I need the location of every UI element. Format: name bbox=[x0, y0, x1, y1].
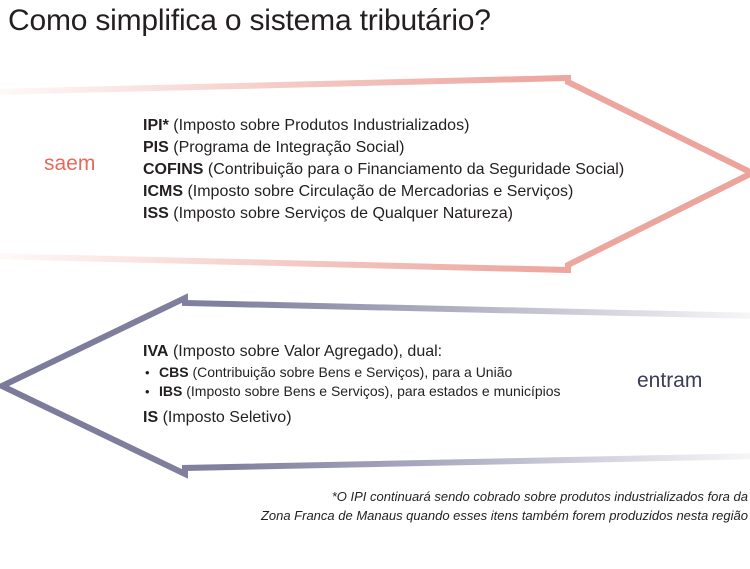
tax-description: (Contribuição para o Financiamento da Se… bbox=[208, 161, 624, 178]
outgoing-tax-list: IPI* (Imposto sobre Produtos Industriali… bbox=[143, 115, 624, 225]
tax-acronym: PIS bbox=[143, 139, 169, 156]
tax-acronym: IS bbox=[143, 409, 158, 426]
footnote-line-1: *O IPI continuará sendo cobrado sobre pr… bbox=[188, 487, 748, 506]
tax-description: (Imposto sobre Valor Agregado), dual: bbox=[173, 343, 442, 360]
list-item: IVA (Imposto sobre Valor Agregado), dual… bbox=[143, 341, 561, 363]
list-item: CBS (Contribuição sobre Bens e Serviços)… bbox=[143, 363, 561, 382]
tax-acronym: IBS bbox=[159, 383, 182, 399]
incoming-group-label: entram bbox=[637, 369, 702, 393]
page-title: Como simplifica o sistema tributário? bbox=[8, 4, 491, 38]
incoming-sub-list: CBS (Contribuição sobre Bens e Serviços)… bbox=[143, 363, 561, 401]
tax-acronym: ISS bbox=[143, 205, 169, 222]
list-item: IS (Imposto Seletivo) bbox=[143, 407, 561, 429]
tax-description: (Imposto sobre Circulação de Mercadorias… bbox=[187, 183, 573, 200]
tax-description: (Imposto sobre Bens e Serviços), para es… bbox=[186, 383, 560, 399]
tax-description: (Imposto Seletivo) bbox=[163, 409, 292, 426]
incoming-tax-list: IVA (Imposto sobre Valor Agregado), dual… bbox=[143, 341, 561, 429]
list-item: PIS (Programa de Integração Social) bbox=[143, 137, 624, 159]
tax-acronym: CBS bbox=[159, 364, 189, 380]
tax-acronym: IVA bbox=[143, 343, 168, 360]
tax-description: (Imposto sobre Serviços de Qualquer Natu… bbox=[173, 205, 513, 222]
footnote: *O IPI continuará sendo cobrado sobre pr… bbox=[188, 487, 748, 525]
footnote-line-2: Zona Franca de Manaus quando esses itens… bbox=[188, 506, 748, 525]
list-item: ICMS (Imposto sobre Circulação de Mercad… bbox=[143, 181, 624, 203]
tax-acronym: COFINS bbox=[143, 161, 203, 178]
arrow-layer bbox=[0, 0, 750, 569]
list-item: ISS (Imposto sobre Serviços de Qualquer … bbox=[143, 203, 624, 225]
tax-description: (Imposto sobre Produtos Industrializados… bbox=[173, 117, 469, 134]
list-item: IBS (Imposto sobre Bens e Serviços), par… bbox=[143, 382, 561, 401]
infographic-root: Como simplifica o sistema tributário? bbox=[0, 0, 750, 569]
tax-acronym: IPI* bbox=[143, 117, 169, 134]
list-item: IPI* (Imposto sobre Produtos Industriali… bbox=[143, 115, 624, 137]
list-item: COFINS (Contribuição para o Financiament… bbox=[143, 159, 624, 181]
tax-acronym: ICMS bbox=[143, 183, 183, 200]
tax-description: (Programa de Integração Social) bbox=[173, 139, 404, 156]
tax-description: (Contribuição sobre Bens e Serviços), pa… bbox=[192, 364, 512, 380]
outgoing-group-label: saem bbox=[44, 152, 95, 176]
